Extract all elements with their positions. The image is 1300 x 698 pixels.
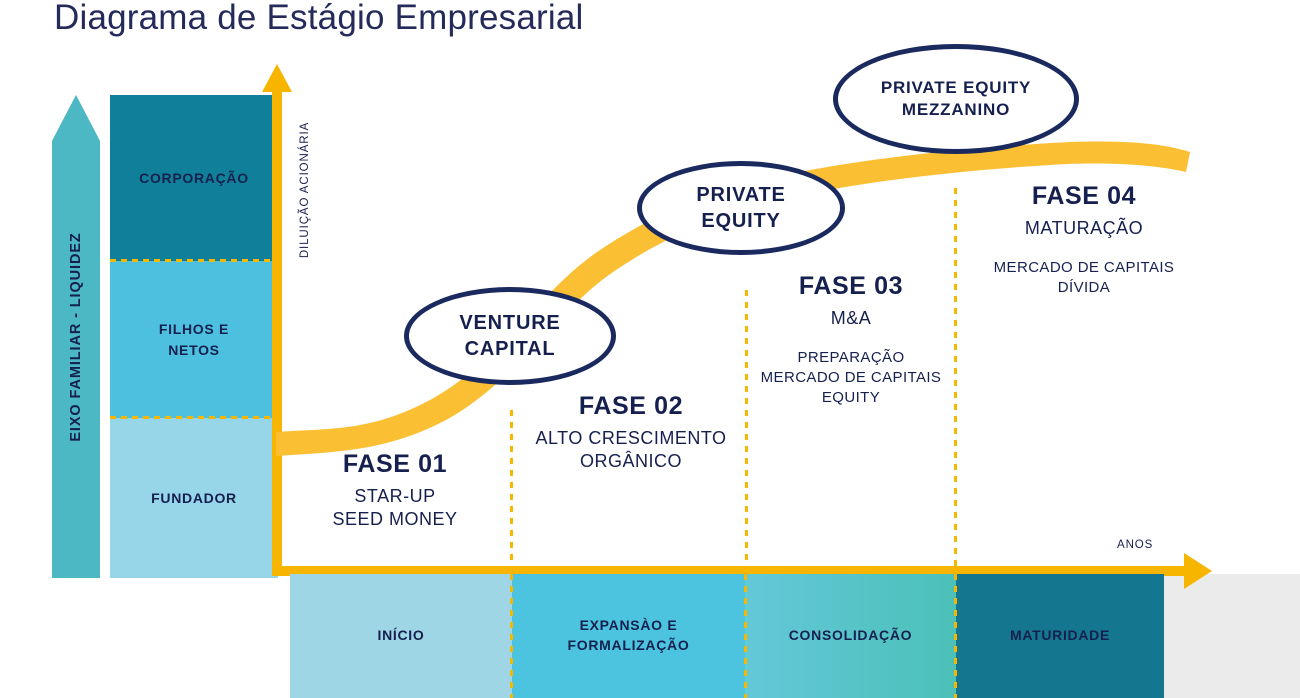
phase-title: FASE 03: [752, 270, 950, 302]
family-block-label: FUNDADOR: [151, 488, 237, 508]
phase-extra-line3: EQUITY: [822, 389, 880, 406]
callout-label: PRIVATE EQUITY: [696, 182, 785, 235]
callout-label-line1: PRIVATE EQUITY: [881, 78, 1031, 97]
phase-subtitle: ALTO CRESCIMENTO ORGÂNICO: [518, 427, 744, 474]
phase-title: FASE 01: [292, 448, 498, 480]
family-block-label: FILHOS E NETOS: [159, 319, 229, 360]
callout-label-line2: EQUITY: [701, 210, 780, 232]
stage-band-label: CONSOLIDAÇÃO: [789, 626, 913, 646]
y-axis-label: DILUIÇÃO ACIONÁRIA: [296, 105, 314, 275]
family-block-separator: [110, 259, 278, 262]
callout-label: PRIVATE EQUITY MEZZANINO: [881, 77, 1031, 122]
phase-divider-3: [954, 188, 957, 568]
phase-subtitle-line1: STAR-UP: [354, 486, 435, 506]
phase-subtitle: MATURAÇÃO: [960, 217, 1208, 240]
stage-band-label: INÍCIO: [378, 626, 425, 646]
family-axis-label: EIXO FAMILIAR - LIQUIDEZ: [68, 232, 84, 441]
family-block-label-line1: FILHOS E: [159, 321, 229, 337]
phase-block-04: FASE 04 MATURAÇÃO MERCADO DE CAPITAIS DÍ…: [960, 180, 1208, 298]
stage-band-label: MATURIDADE: [1010, 626, 1110, 646]
phase-block-03: FASE 03 M&A PREPARAÇÃO MERCADO DE CAPITA…: [752, 270, 950, 408]
callout-label-line1: PRIVATE: [696, 184, 785, 206]
family-block-separator: [110, 416, 278, 419]
y-axis: [272, 88, 282, 575]
family-axis-arrow: EIXO FAMILIAR - LIQUIDEZ: [52, 95, 100, 578]
callout-label-line2: MEZZANINO: [902, 100, 1010, 119]
callout-venture-capital[interactable]: VENTURE CAPITAL: [404, 287, 616, 385]
phase-title: FASE 02: [518, 390, 744, 422]
x-axis-label: ANOS: [1117, 539, 1153, 551]
stage-band-separator: [954, 574, 957, 698]
phase-subtitle-line2: SEED MONEY: [332, 509, 457, 529]
phase-extra: MERCADO DE CAPITAIS DÍVIDA: [960, 258, 1208, 298]
family-block-fundador: FUNDADOR: [110, 418, 278, 578]
stage-band-label-line1: EXPANSÀO E: [580, 617, 678, 633]
family-block-label: CORPORAÇÃO: [139, 168, 249, 188]
diagram-canvas: Diagrama de Estágio Empresarial EIXO FAM…: [0, 0, 1300, 698]
x-axis-arrowhead-icon: [1184, 553, 1212, 589]
phase-extra-line2: DÍVIDA: [1058, 279, 1110, 296]
phase-subtitle: STAR-UP SEED MONEY: [292, 485, 498, 532]
phase-extra: PREPARAÇÃO MERCADO DE CAPITAIS EQUITY: [752, 348, 950, 407]
stage-band-consolidacao: CONSOLIDAÇÃO: [745, 574, 956, 698]
callout-label-line1: VENTURE: [459, 312, 560, 334]
phase-extra-line1: PREPARAÇÃO: [797, 349, 904, 366]
phase-block-01: FASE 01 STAR-UP SEED MONEY: [292, 448, 498, 532]
phase-divider-2: [745, 290, 748, 568]
callout-private-equity-mezzanino[interactable]: PRIVATE EQUITY MEZZANINO: [833, 44, 1079, 154]
stage-band-label: EXPANSÀO E FORMALIZAÇÃO: [568, 616, 690, 655]
family-blocks-stack: CORPORAÇÃO FILHOS E NETOS FUNDADOR: [110, 95, 278, 578]
phase-block-02: FASE 02 ALTO CRESCIMENTO ORGÂNICO: [518, 390, 744, 474]
family-block-filhos-netos: FILHOS E NETOS: [110, 261, 278, 418]
family-block-corporacao: CORPORAÇÃO: [110, 95, 278, 261]
phase-divider-1: [510, 410, 513, 568]
phase-subtitle-line2: ORGÂNICO: [580, 451, 682, 471]
stage-band-maturidade: MATURIDADE: [956, 574, 1164, 698]
page-title: Diagrama de Estágio Empresarial: [54, 0, 584, 38]
callout-label: VENTURE CAPITAL: [459, 310, 560, 363]
phase-title: FASE 04: [960, 180, 1208, 212]
family-block-label-line2: NETOS: [168, 342, 219, 358]
stage-band-expansao: EXPANSÀO E FORMALIZAÇÃO: [512, 574, 745, 698]
phase-extra-line2: MERCADO DE CAPITAIS: [761, 369, 942, 386]
callout-label-line2: CAPITAL: [465, 338, 556, 360]
phase-extra-line1: MERCADO DE CAPITAIS: [994, 259, 1175, 276]
stage-band-separator: [510, 574, 513, 698]
callout-private-equity[interactable]: PRIVATE EQUITY: [637, 161, 845, 255]
stage-band-separator: [744, 574, 747, 698]
phase-subtitle: M&A: [752, 307, 950, 330]
phase-subtitle-line1: ALTO CRESCIMENTO: [535, 428, 726, 448]
right-grey-panel: [1163, 574, 1300, 698]
stage-band-label-line2: FORMALIZAÇÃO: [568, 637, 690, 653]
stage-band-inicio: INÍCIO: [290, 574, 512, 698]
